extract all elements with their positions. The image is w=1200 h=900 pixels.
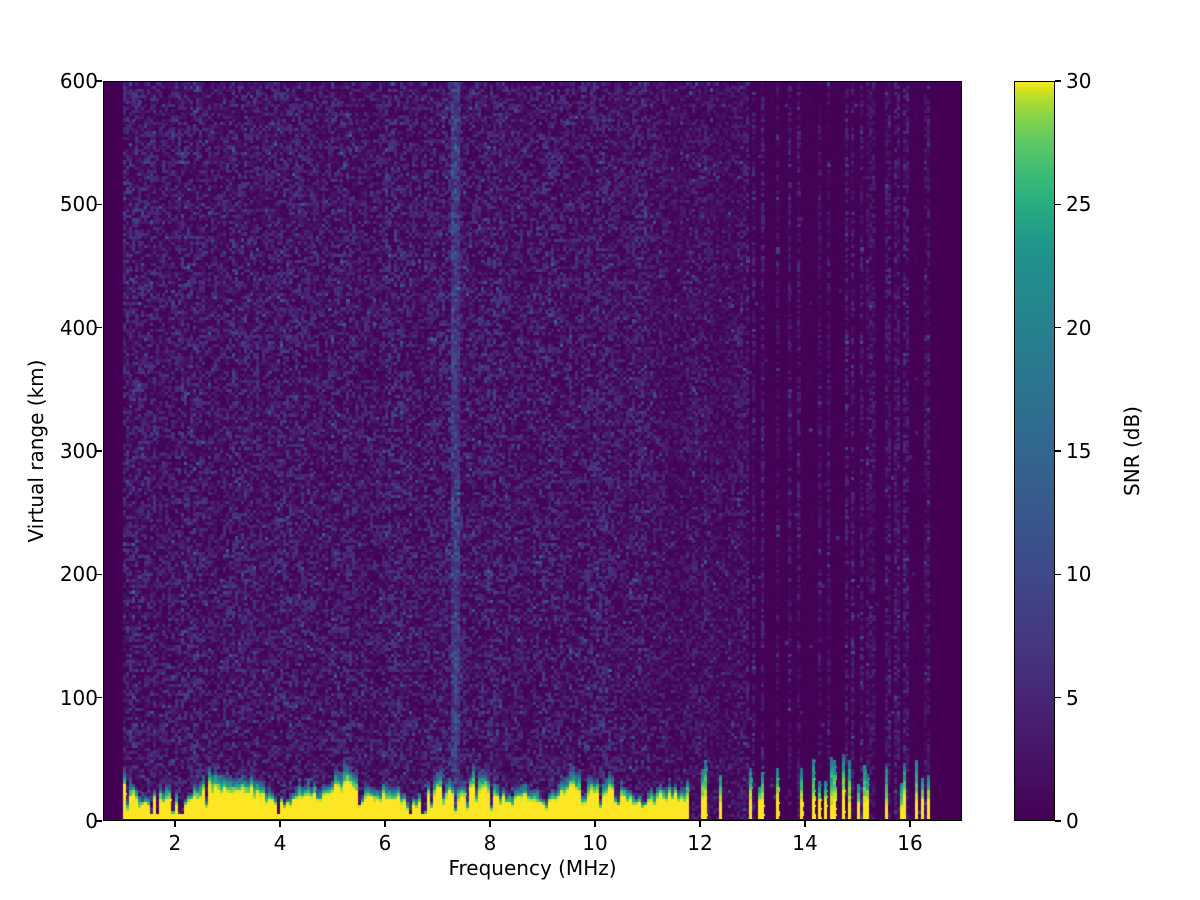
colorbar-tick-label: 30 xyxy=(1066,69,1091,93)
y-tick-label: 500 xyxy=(60,192,98,216)
y-tick-label: 300 xyxy=(60,439,98,463)
colorbar-tick-mark xyxy=(1055,204,1061,206)
x-tick-mark xyxy=(909,821,911,827)
colorbar-tick-mark xyxy=(1055,697,1061,699)
colorbar-tick-label: 15 xyxy=(1066,439,1091,463)
y-tick-label: 200 xyxy=(60,562,98,586)
x-tick-mark xyxy=(279,821,281,827)
ionogram-heatmap-canvas xyxy=(104,82,960,819)
colorbar-tick-label: 0 xyxy=(1066,809,1079,833)
x-tick-label: 16 xyxy=(897,831,922,855)
colorbar-label: SNR (dB) xyxy=(1120,301,1144,601)
x-tick-label: 4 xyxy=(274,831,287,855)
x-tick-mark xyxy=(594,821,596,827)
y-tick-label: 400 xyxy=(60,316,98,340)
x-tick-mark xyxy=(489,821,491,827)
x-tick-label: 12 xyxy=(687,831,712,855)
x-tick-label: 6 xyxy=(379,831,392,855)
colorbar-tick-mark xyxy=(1055,80,1061,82)
x-tick-label: 2 xyxy=(169,831,182,855)
x-tick-label: 8 xyxy=(484,831,497,855)
y-tick-label: 100 xyxy=(60,686,98,710)
colorbar-tick-mark xyxy=(1055,327,1061,329)
y-axis-label: Virtual range (km) xyxy=(24,301,48,601)
y-tick-label: 600 xyxy=(60,69,98,93)
colorbar-tick-label: 25 xyxy=(1066,192,1091,216)
colorbar-tick-mark xyxy=(1055,450,1061,452)
x-tick-mark xyxy=(384,821,386,827)
x-tick-mark xyxy=(174,821,176,827)
colorbar-tick-label: 20 xyxy=(1066,316,1091,340)
x-tick-mark xyxy=(804,821,806,827)
y-tick-label: 0 xyxy=(85,809,98,833)
colorbar-tick-label: 10 xyxy=(1066,562,1091,586)
colorbar-tick-mark xyxy=(1055,820,1061,822)
x-axis-label: Frequency (MHz) xyxy=(103,856,962,880)
ionogram-figure: IRF Kiruna Ionosonde KI167 2025-10-02 21… xyxy=(0,0,1200,900)
x-tick-mark xyxy=(699,821,701,827)
x-tick-label: 14 xyxy=(792,831,817,855)
ionogram-plot-area xyxy=(103,81,962,821)
colorbar xyxy=(1014,81,1055,821)
colorbar-tick-label: 5 xyxy=(1066,686,1079,710)
x-tick-label: 10 xyxy=(582,831,607,855)
colorbar-tick-mark xyxy=(1055,574,1061,576)
